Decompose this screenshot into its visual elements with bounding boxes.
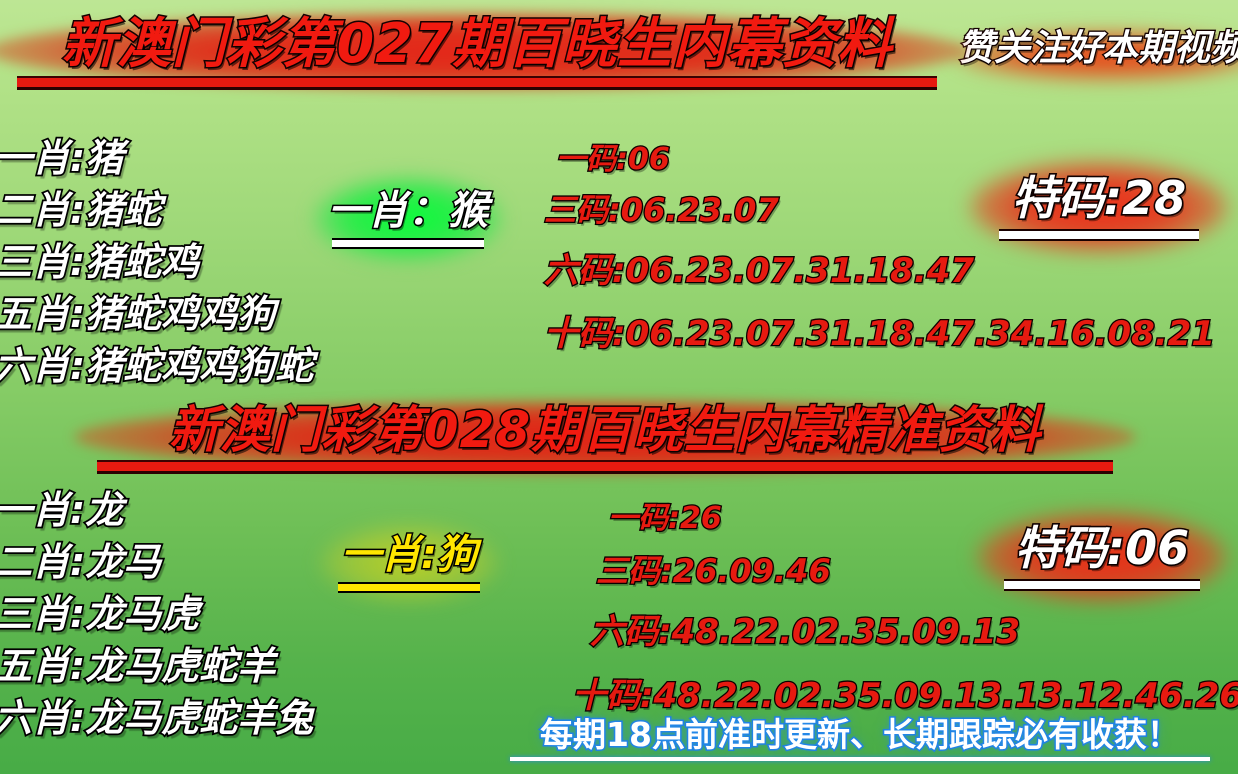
section-1-pick-rule	[332, 238, 484, 249]
update-notice-rule	[510, 757, 1210, 761]
zodiac-row: 六肖:猪蛇鸡鸡狗蛇	[0, 340, 313, 392]
section-2-title: 新澳门彩第028期百晓生内幕精准资料	[169, 396, 1041, 464]
section-1-title-banner: 新澳门彩第027期百晓生内幕资料	[0, 8, 1096, 96]
section-1-special-rule	[999, 229, 1199, 241]
code-row-10: 十码:06.23.07.31.18.47.34.16.08.21	[544, 306, 1215, 362]
section-2-special-label: 特码:06	[1015, 522, 1189, 574]
section-1-pick-label: 一肖：猴	[328, 188, 488, 234]
section-1-title: 新澳门彩第027期百晓生内幕资料	[62, 8, 893, 80]
section-1-special-label: 特码:28	[1012, 172, 1186, 224]
update-notice: 每期18点前准时更新、长期跟踪必有收获！	[490, 716, 1230, 761]
section-2-special-rule	[1004, 579, 1200, 591]
section-2-zodiac-list: 一肖:龙 二肖:龙马 三肖:龙马虎 五肖:龙马虎蛇羊 六肖:龙马虎蛇羊兔	[0, 484, 313, 744]
code-row-6: 六码:48.22.02.35.09.13	[590, 598, 1238, 666]
zodiac-row: 三肖:猪蛇鸡	[0, 236, 313, 288]
zodiac-row: 六肖:龙马虎蛇羊兔	[0, 692, 313, 744]
section-2-title-banner: 新澳门彩第028期百晓生内幕精准资料	[0, 396, 1224, 480]
zodiac-row: 三肖:龙马虎	[0, 588, 313, 640]
zodiac-row: 五肖:猪蛇鸡鸡狗	[0, 288, 313, 340]
zodiac-row: 二肖:龙马	[0, 536, 313, 588]
zodiac-row: 二肖:猪蛇	[0, 184, 313, 236]
section-2-pick-box: 一肖:狗	[324, 532, 494, 593]
zodiac-row: 一肖:猪	[0, 132, 313, 184]
section-2-pick-rule	[338, 582, 480, 593]
section-1-pick-box: 一肖：猴	[318, 188, 498, 249]
section-1-zodiac-list: 一肖:猪 二肖:猪蛇 三肖:猪蛇鸡 五肖:猪蛇鸡鸡狗 六肖:猪蛇鸡鸡狗蛇	[0, 132, 313, 392]
section-2-pick-label: 一肖:狗	[341, 532, 477, 578]
section-1-title-rule	[17, 76, 937, 90]
poster-canvas: 赞关注好本期视频 新澳门彩第027期百晓生内幕资料 一肖:猪 二肖:猪蛇 三肖:…	[0, 0, 1238, 774]
section-1-special-box: 特码:28	[978, 172, 1220, 241]
section-2-title-rule	[97, 460, 1113, 474]
section-2-special-box: 特码:06	[984, 522, 1220, 591]
zodiac-row: 五肖:龙马虎蛇羊	[0, 640, 313, 692]
zodiac-row: 一肖:龙	[0, 484, 313, 536]
update-notice-label: 每期18点前准时更新、长期跟踪必有收获！	[540, 716, 1180, 754]
